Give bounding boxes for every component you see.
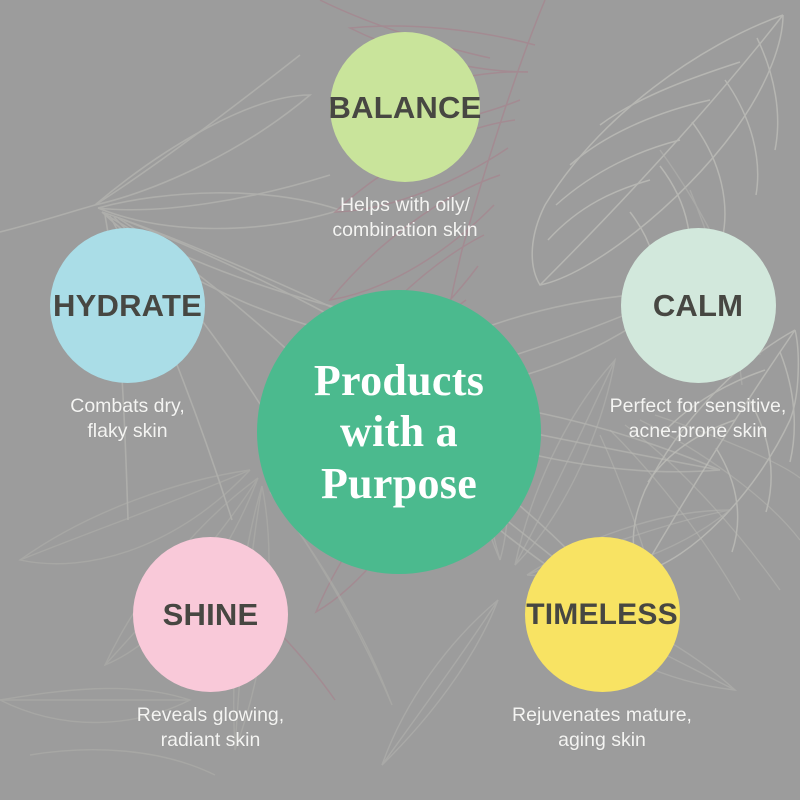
hub-title: Products with a Purpose [314, 355, 484, 509]
benefit-node-balance[interactable]: BALANCE Helps with oily/ combination ski… [305, 32, 505, 243]
benefit-node-hydrate[interactable]: HYDRATE Combats dry, flaky skin [20, 228, 235, 444]
center-hub-circle: Products with a Purpose [257, 290, 541, 574]
benefit-node-timeless[interactable]: TIMELESS Rejuvenates mature, aging skin [492, 537, 712, 753]
balance-label: BALANCE [329, 92, 482, 123]
calm-label: CALM [653, 290, 743, 321]
timeless-caption: Rejuvenates mature, aging skin [512, 703, 692, 753]
timeless-label: TIMELESS [526, 600, 678, 630]
hydrate-caption: Combats dry, flaky skin [70, 394, 185, 444]
shine-label: SHINE [163, 599, 259, 630]
shine-caption: Reveals glowing, radiant skin [137, 703, 284, 753]
hydrate-circle[interactable]: HYDRATE [50, 228, 205, 383]
benefit-node-calm[interactable]: CALM Perfect for sensitive, acne-prone s… [592, 228, 800, 444]
calm-caption: Perfect for sensitive, acne-prone skin [610, 394, 787, 444]
balance-caption: Helps with oily/ combination skin [332, 193, 477, 243]
infographic-canvas: Products with a Purpose BALANCE Helps wi… [0, 0, 800, 800]
calm-circle[interactable]: CALM [621, 228, 776, 383]
shine-circle[interactable]: SHINE [133, 537, 288, 692]
balance-circle[interactable]: BALANCE [330, 32, 480, 182]
timeless-circle[interactable]: TIMELESS [525, 537, 680, 692]
benefit-node-shine[interactable]: SHINE Reveals glowing, radiant skin [103, 537, 318, 753]
hydrate-label: HYDRATE [53, 290, 202, 321]
